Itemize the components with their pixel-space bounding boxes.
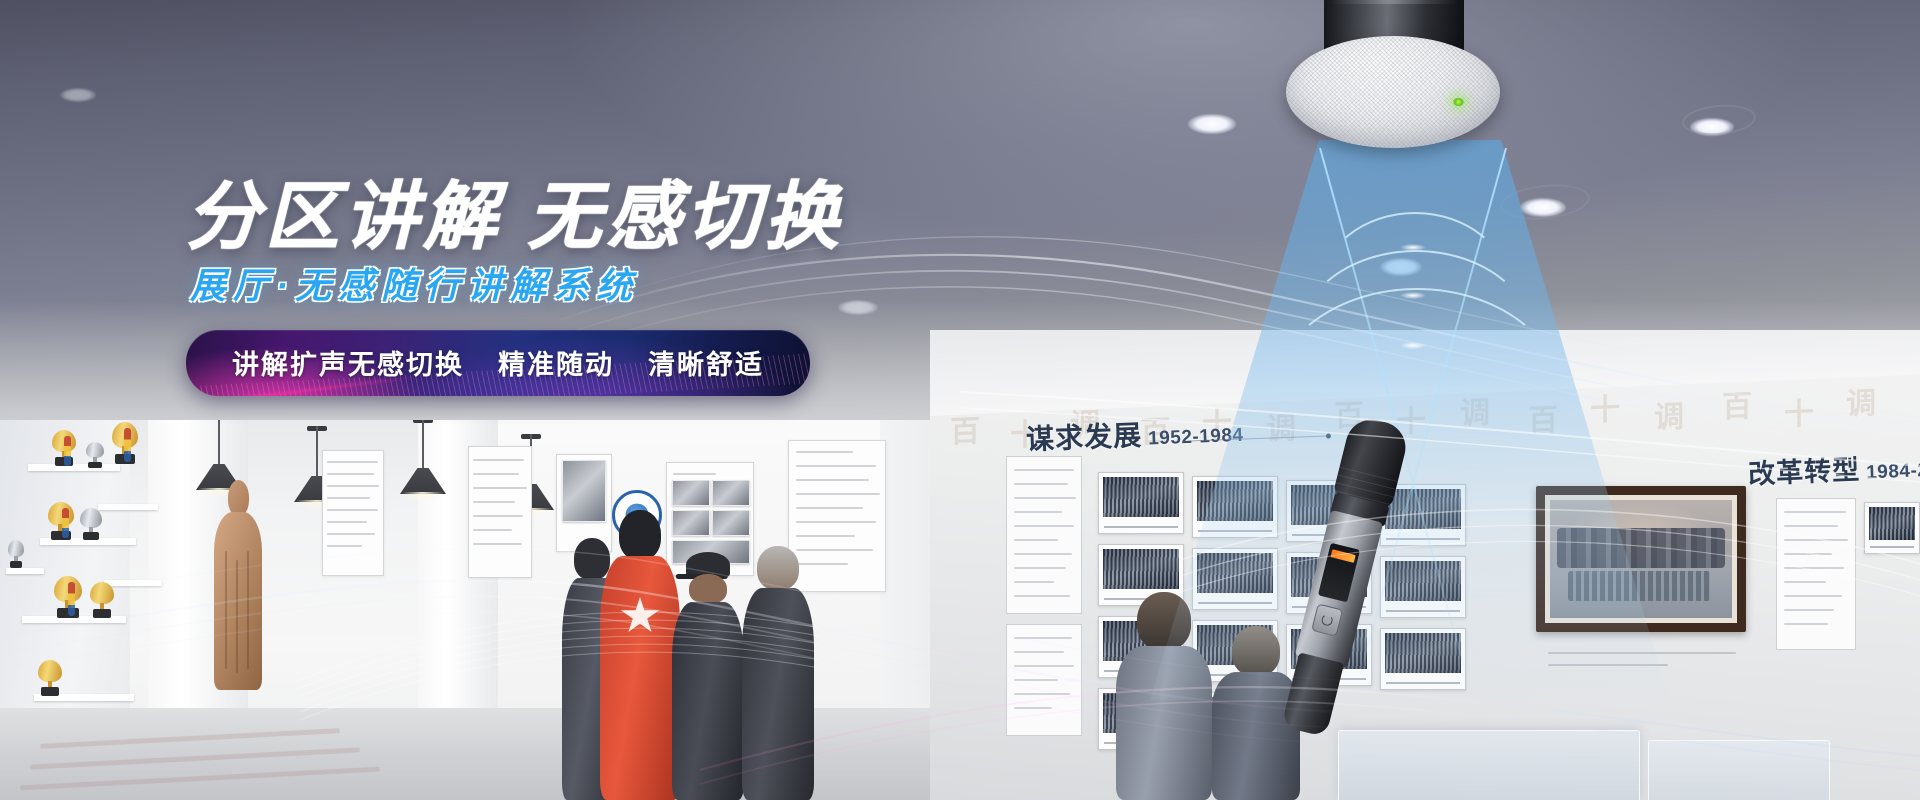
banner-copy-block: 分区讲解 无感切换 展厅·无感随行讲解系统 讲解扩声无感切换 精准随动 清晰舒适	[186, 180, 1086, 401]
speaker-grille-dome	[1286, 36, 1500, 148]
award-ribbon	[62, 508, 69, 538]
historic-photo	[1098, 472, 1184, 534]
visitor-figure-elder	[742, 546, 814, 800]
award-ribbon	[124, 428, 131, 462]
wall-section-years: 1984-2010	[1866, 459, 1920, 484]
exhibit-display-case	[1338, 730, 1640, 800]
wall-text-panel	[1006, 624, 1082, 736]
soundwave-highlight	[1400, 292, 1426, 299]
exhibit-photo	[712, 510, 750, 536]
exhibit-photo	[712, 480, 750, 506]
exhibit-text-panel	[468, 446, 532, 578]
page-title: 分区讲解 无感切换	[186, 180, 1086, 254]
trophy-icon	[86, 442, 104, 468]
wall-text-panel	[1776, 498, 1856, 650]
wall-section-title-1: 谋求发展1952-1984	[1025, 410, 1244, 458]
visitor-figure-with-cap	[672, 552, 744, 800]
award-ribbon	[68, 582, 75, 616]
trophy-icon	[38, 660, 62, 696]
ceiling-downlight-icon	[1188, 114, 1236, 134]
wall-section-label: 改革转型	[1748, 455, 1861, 490]
trophy-shelf	[98, 504, 158, 510]
feature-list: 讲解扩声无感切换 精准随动 清晰舒适	[232, 343, 764, 382]
exhibit-photo	[672, 480, 710, 506]
promo-banner: 百十 调百 十调 百十 调百 十调 百十 调 谋求发展1952-1984 改革转…	[0, 0, 1920, 800]
soundwave-highlight	[1400, 244, 1426, 251]
trophy-icon	[48, 502, 74, 540]
wall-section-title-2: 改革转型1984-2010	[1747, 444, 1920, 492]
speaker-power-led-icon	[1453, 98, 1464, 106]
feature-item-2: 精准随动	[498, 343, 614, 382]
microphone-battery-grip	[1281, 652, 1344, 737]
gallery-floor	[0, 708, 1000, 800]
exhibit-text-panel	[322, 450, 384, 576]
terracotta-statue	[210, 480, 266, 690]
feature-pill: 讲解扩声无感切换 精准随动 清晰舒适	[186, 330, 810, 396]
trophy-icon	[8, 540, 24, 568]
wall-text-panel	[1006, 456, 1082, 614]
historic-photo	[1864, 502, 1920, 554]
soundwave-arc-icon	[1272, 288, 1562, 504]
wall-section-label: 谋求发展	[1026, 420, 1143, 455]
trophy-icon	[80, 508, 102, 540]
pendant-lamp-icon	[400, 420, 446, 508]
award-ribbon	[64, 436, 71, 466]
page-subtitle: 展厅·无感随行讲解系统	[190, 266, 1086, 306]
trophy-shelf	[6, 568, 44, 574]
soundwave-highlight	[1400, 342, 1426, 349]
feature-item-3: 清晰舒适	[648, 343, 764, 382]
trophy-icon	[90, 582, 114, 618]
visitor-figure-volunteer	[600, 510, 680, 800]
ceiling-downlight-icon	[60, 88, 96, 102]
museum-gallery-room	[0, 420, 1000, 800]
ceiling-speaker	[1286, 0, 1500, 172]
exhibit-display-case	[1648, 740, 1830, 800]
feature-item-1: 讲解扩声无感切换	[232, 343, 464, 382]
